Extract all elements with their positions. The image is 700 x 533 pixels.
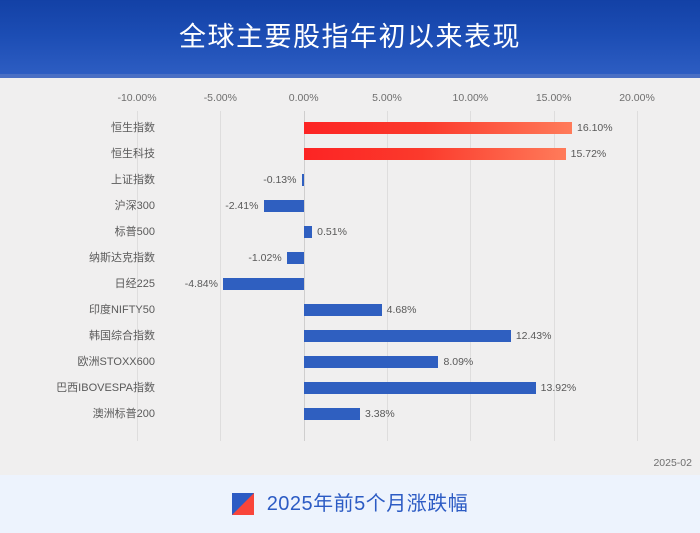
bar bbox=[304, 330, 511, 342]
category-label: 澳洲标普200 bbox=[93, 401, 155, 427]
bar bbox=[304, 408, 360, 420]
footer-caption: 2025年前5个月涨跌幅 bbox=[267, 494, 469, 514]
bar bbox=[304, 382, 536, 394]
bar-row: 恒生科技15.72% bbox=[0, 141, 700, 167]
category-label: 日经225 bbox=[115, 271, 155, 297]
bar-row: 韩国综合指数12.43% bbox=[0, 323, 700, 349]
value-label: 13.92% bbox=[541, 375, 577, 401]
x-tick-label: 0.00% bbox=[289, 90, 319, 106]
corner-note: 2025-02 bbox=[653, 457, 692, 469]
bar-row: 巴西IBOVESPA指数13.92% bbox=[0, 375, 700, 401]
page-title: 全球主要股指年初以来表现 bbox=[179, 24, 521, 51]
category-label: 欧洲STOXX600 bbox=[78, 349, 155, 375]
value-label: 15.72% bbox=[571, 141, 607, 167]
bar-row: 日经225-4.84% bbox=[0, 271, 700, 297]
bar bbox=[304, 356, 439, 368]
bar-row: 欧洲STOXX6008.09% bbox=[0, 349, 700, 375]
header-banner: 全球主要股指年初以来表现 bbox=[0, 0, 700, 74]
footer-bar: 2025年前5个月涨跌幅 bbox=[0, 475, 700, 533]
split-square-icon bbox=[232, 493, 254, 515]
bar bbox=[304, 304, 382, 316]
x-tick-label: -5.00% bbox=[204, 90, 237, 106]
category-label: 沪深300 bbox=[115, 193, 155, 219]
value-label: -0.13% bbox=[263, 167, 296, 193]
x-tick-label: -10.00% bbox=[117, 90, 156, 106]
category-label: 标普500 bbox=[115, 219, 155, 245]
chart-page: 全球主要股指年初以来表现 -10.00%-5.00%0.00%5.00%10.0… bbox=[0, 0, 700, 533]
bar bbox=[264, 200, 304, 212]
bar-row: 印度NIFTY504.68% bbox=[0, 297, 700, 323]
bar-row: 沪深300-2.41% bbox=[0, 193, 700, 219]
x-axis-tick-labels: -10.00%-5.00%0.00%5.00%10.00%15.00%20.00… bbox=[0, 90, 700, 106]
category-label: 上证指数 bbox=[111, 167, 155, 193]
category-label: 纳斯达克指数 bbox=[89, 245, 155, 271]
bar bbox=[287, 252, 304, 264]
x-tick-label: 15.00% bbox=[536, 90, 572, 106]
value-label: 3.38% bbox=[365, 401, 395, 427]
category-label: 恒生科技 bbox=[111, 141, 155, 167]
x-tick-label: 10.00% bbox=[453, 90, 489, 106]
bar bbox=[304, 148, 566, 160]
bar-row: 澳洲标普2003.38% bbox=[0, 401, 700, 427]
value-label: 8.09% bbox=[444, 349, 474, 375]
chart-panel: -10.00%-5.00%0.00%5.00%10.00%15.00%20.00… bbox=[0, 78, 700, 475]
value-label: 4.68% bbox=[387, 297, 417, 323]
value-label: -4.84% bbox=[185, 271, 218, 297]
value-label: -2.41% bbox=[225, 193, 258, 219]
bar bbox=[304, 122, 572, 134]
value-label: 0.51% bbox=[317, 219, 347, 245]
x-tick-label: 5.00% bbox=[372, 90, 402, 106]
plot-area: 恒生指数16.10%恒生科技15.72%上证指数-0.13%沪深300-2.41… bbox=[0, 111, 700, 441]
bar-row: 纳斯达克指数-1.02% bbox=[0, 245, 700, 271]
bar-row: 恒生指数16.10% bbox=[0, 115, 700, 141]
value-label: 12.43% bbox=[516, 323, 552, 349]
category-label: 巴西IBOVESPA指数 bbox=[56, 375, 155, 401]
category-label: 印度NIFTY50 bbox=[89, 297, 155, 323]
category-label: 恒生指数 bbox=[111, 115, 155, 141]
bar bbox=[223, 278, 304, 290]
value-label: 16.10% bbox=[577, 115, 613, 141]
bar bbox=[304, 226, 313, 238]
value-label: -1.02% bbox=[248, 245, 281, 271]
x-tick-label: 20.00% bbox=[619, 90, 655, 106]
bar-row: 标普5000.51% bbox=[0, 219, 700, 245]
bar-row: 上证指数-0.13% bbox=[0, 167, 700, 193]
bar bbox=[302, 174, 304, 186]
category-label: 韩国综合指数 bbox=[89, 323, 155, 349]
